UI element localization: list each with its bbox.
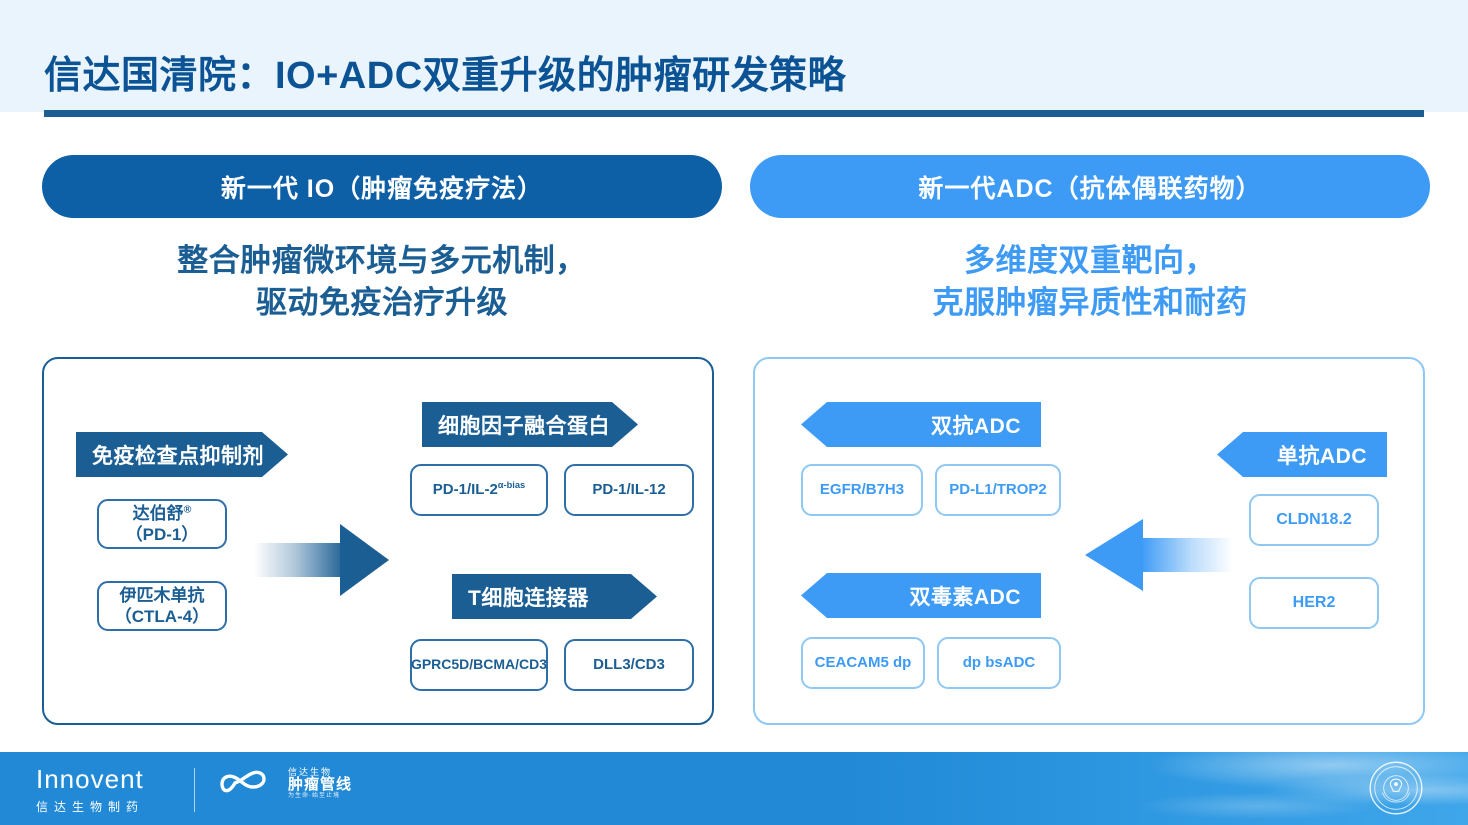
io-item-pd1-il12: PD-1/IL-12 <box>564 464 694 516</box>
column-io-subtitle-line2: 驱动免疫治疗升级 <box>42 282 722 324</box>
column-adc: 新一代ADC（抗体偶联药物） 多维度双重靶向， 克服肿瘤异质性和耐药 <box>750 155 1430 323</box>
adc-group-label-dualtoxin: 双毒素ADC <box>801 573 1041 618</box>
io-item-darbeshu: 达伯舒® （PD-1） <box>97 499 227 549</box>
oncology-pipeline-text: 信达生物 肿瘤管线 为生命·始至止境 <box>288 768 352 799</box>
column-adc-subtitle-line2: 克服肿瘤异质性和耐药 <box>750 282 1430 324</box>
adc-diagram-panel: 双抗ADC EGFR/B7H3 PD-L1/TROP2 双毒素ADC CEACA… <box>753 357 1425 725</box>
pipeline-tagline: 为生命·始至止境 <box>288 793 352 799</box>
adc-group-label-monoclonal: 单抗ADC <box>1217 432 1387 477</box>
column-io: 新一代 IO（肿瘤免疫疗法） 整合肿瘤微环境与多元机制， 驱动免疫治疗升级 <box>42 155 722 323</box>
adc-item-her2: HER2 <box>1249 577 1379 629</box>
io-flow-arrow-right <box>254 524 389 596</box>
adc-item-cldn18: CLDN18.2 <box>1249 494 1379 546</box>
registered-trademark-icon: ® <box>184 503 192 515</box>
innovent-chinese-name: 信达生物制药 <box>36 798 436 815</box>
adc-item-pdl1-trop2: PD-L1/TROP2 <box>935 464 1061 516</box>
institution-emblem-icon <box>1368 760 1424 816</box>
innovent-logo: Innovent 信达生物制药 信达生物 肿瘤管线 为生命·始至止境 <box>36 766 436 812</box>
io-diagram-panel: 免疫检查点抑制剂 达伯舒® （PD-1） 伊匹木单抗 （CTLA-4） 细胞因子… <box>42 357 714 725</box>
column-io-subtitle: 整合肿瘤微环境与多元机制， 驱动免疫治疗升级 <box>42 240 722 323</box>
adc-item-ceacam5: CEACAM5 dp <box>801 637 925 689</box>
io-item-gprc5d: GPRC5D/BCMA/CD3 <box>410 639 548 691</box>
io-item-pd1-il2: PD-1/IL-2α-bias <box>410 464 548 516</box>
footer: Innovent 信达生物制药 信达生物 肿瘤管线 为生命·始至止境 <box>0 752 1468 825</box>
pipeline-line2: 肿瘤管线 <box>288 777 352 793</box>
column-io-subtitle-line1: 整合肿瘤微环境与多元机制， <box>42 240 722 282</box>
adc-group-label-bispecific: 双抗ADC <box>801 402 1041 447</box>
adc-item-egfr-b7h3: EGFR/B7H3 <box>801 464 923 516</box>
logo-divider <box>194 768 195 812</box>
io-group-label-tcell: T细胞连接器 <box>452 574 657 619</box>
io-group-label-cytokine: 细胞因子融合蛋白 <box>422 402 638 447</box>
page-title: 信达国清院：IO+ADC双重升级的肿瘤研发策略 <box>44 44 846 99</box>
column-adc-subtitle: 多维度双重靶向， 克服肿瘤异质性和耐药 <box>750 240 1430 323</box>
column-io-banner: 新一代 IO（肿瘤免疫疗法） <box>42 155 722 218</box>
slide: 信达国清院：IO+ADC双重升级的肿瘤研发策略 新一代 IO（肿瘤免疫疗法） 整… <box>0 0 1468 825</box>
adc-flow-arrow-left <box>1085 519 1233 591</box>
adc-item-dp-bsadc: dp bsADC <box>937 637 1061 689</box>
io-group-label-checkpoint: 免疫检查点抑制剂 <box>76 432 288 477</box>
column-adc-subtitle-line1: 多维度双重靶向， <box>750 240 1430 282</box>
oncology-pipeline-logo: 信达生物 肿瘤管线 为生命·始至止境 <box>216 768 352 799</box>
io-item-ipilimumab: 伊匹木单抗 （CTLA-4） <box>97 581 227 631</box>
column-adc-banner: 新一代ADC（抗体偶联药物） <box>750 155 1430 218</box>
infinity-icon <box>216 769 280 799</box>
io-item-dll3: DLL3/CD3 <box>564 639 694 691</box>
title-underline <box>44 110 1424 117</box>
